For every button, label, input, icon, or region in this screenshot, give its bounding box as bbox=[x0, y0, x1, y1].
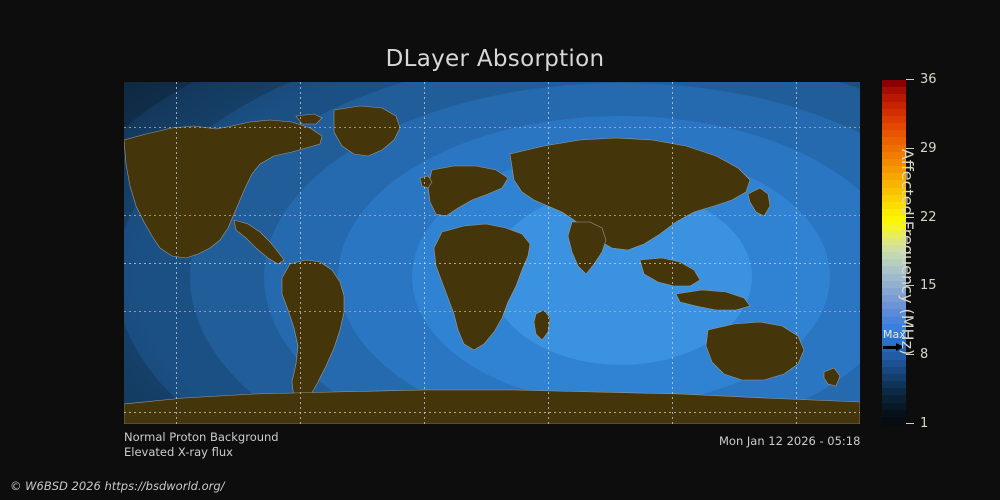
tropic-of-capricorn-line bbox=[124, 311, 860, 312]
meridian-line bbox=[672, 82, 673, 424]
colorbar-tick-label: 1 bbox=[920, 415, 928, 433]
proton-status-note: Normal Proton Background bbox=[124, 430, 279, 444]
colorbar-tick-label: 29 bbox=[920, 140, 937, 158]
xray-status-note: Elevated X-ray flux bbox=[124, 445, 233, 459]
colorbar-tick-label: 36 bbox=[920, 71, 937, 89]
tropic-of-cancer-line bbox=[124, 215, 860, 216]
meridian-line bbox=[300, 82, 301, 424]
colorbar-axis-label: Affected Frequency (MHz) bbox=[895, 80, 919, 424]
meridian-line bbox=[796, 82, 797, 424]
colorbar-tick-label: 15 bbox=[920, 277, 937, 295]
absorption-map-figure: DLayer Absorption bbox=[0, 0, 1000, 500]
equator-line bbox=[124, 263, 860, 264]
map-graticule bbox=[124, 82, 860, 424]
timestamp: Mon Jan 12 2026 - 05:18 bbox=[719, 434, 860, 448]
meridian-line bbox=[548, 82, 549, 424]
arctic-circle-line bbox=[124, 127, 860, 128]
meridian-line bbox=[424, 82, 425, 424]
meridian-line bbox=[176, 82, 177, 424]
credit-line: © W6BSD 2026 https://bsdworld.org/ bbox=[10, 479, 225, 493]
colorbar-tick-label: 22 bbox=[920, 209, 937, 227]
antarctic-circle-line bbox=[124, 412, 860, 413]
world-map[interactable] bbox=[124, 82, 860, 424]
page-title: DLayer Absorption bbox=[0, 46, 990, 72]
colorbar-tick-label: 8 bbox=[920, 346, 928, 364]
